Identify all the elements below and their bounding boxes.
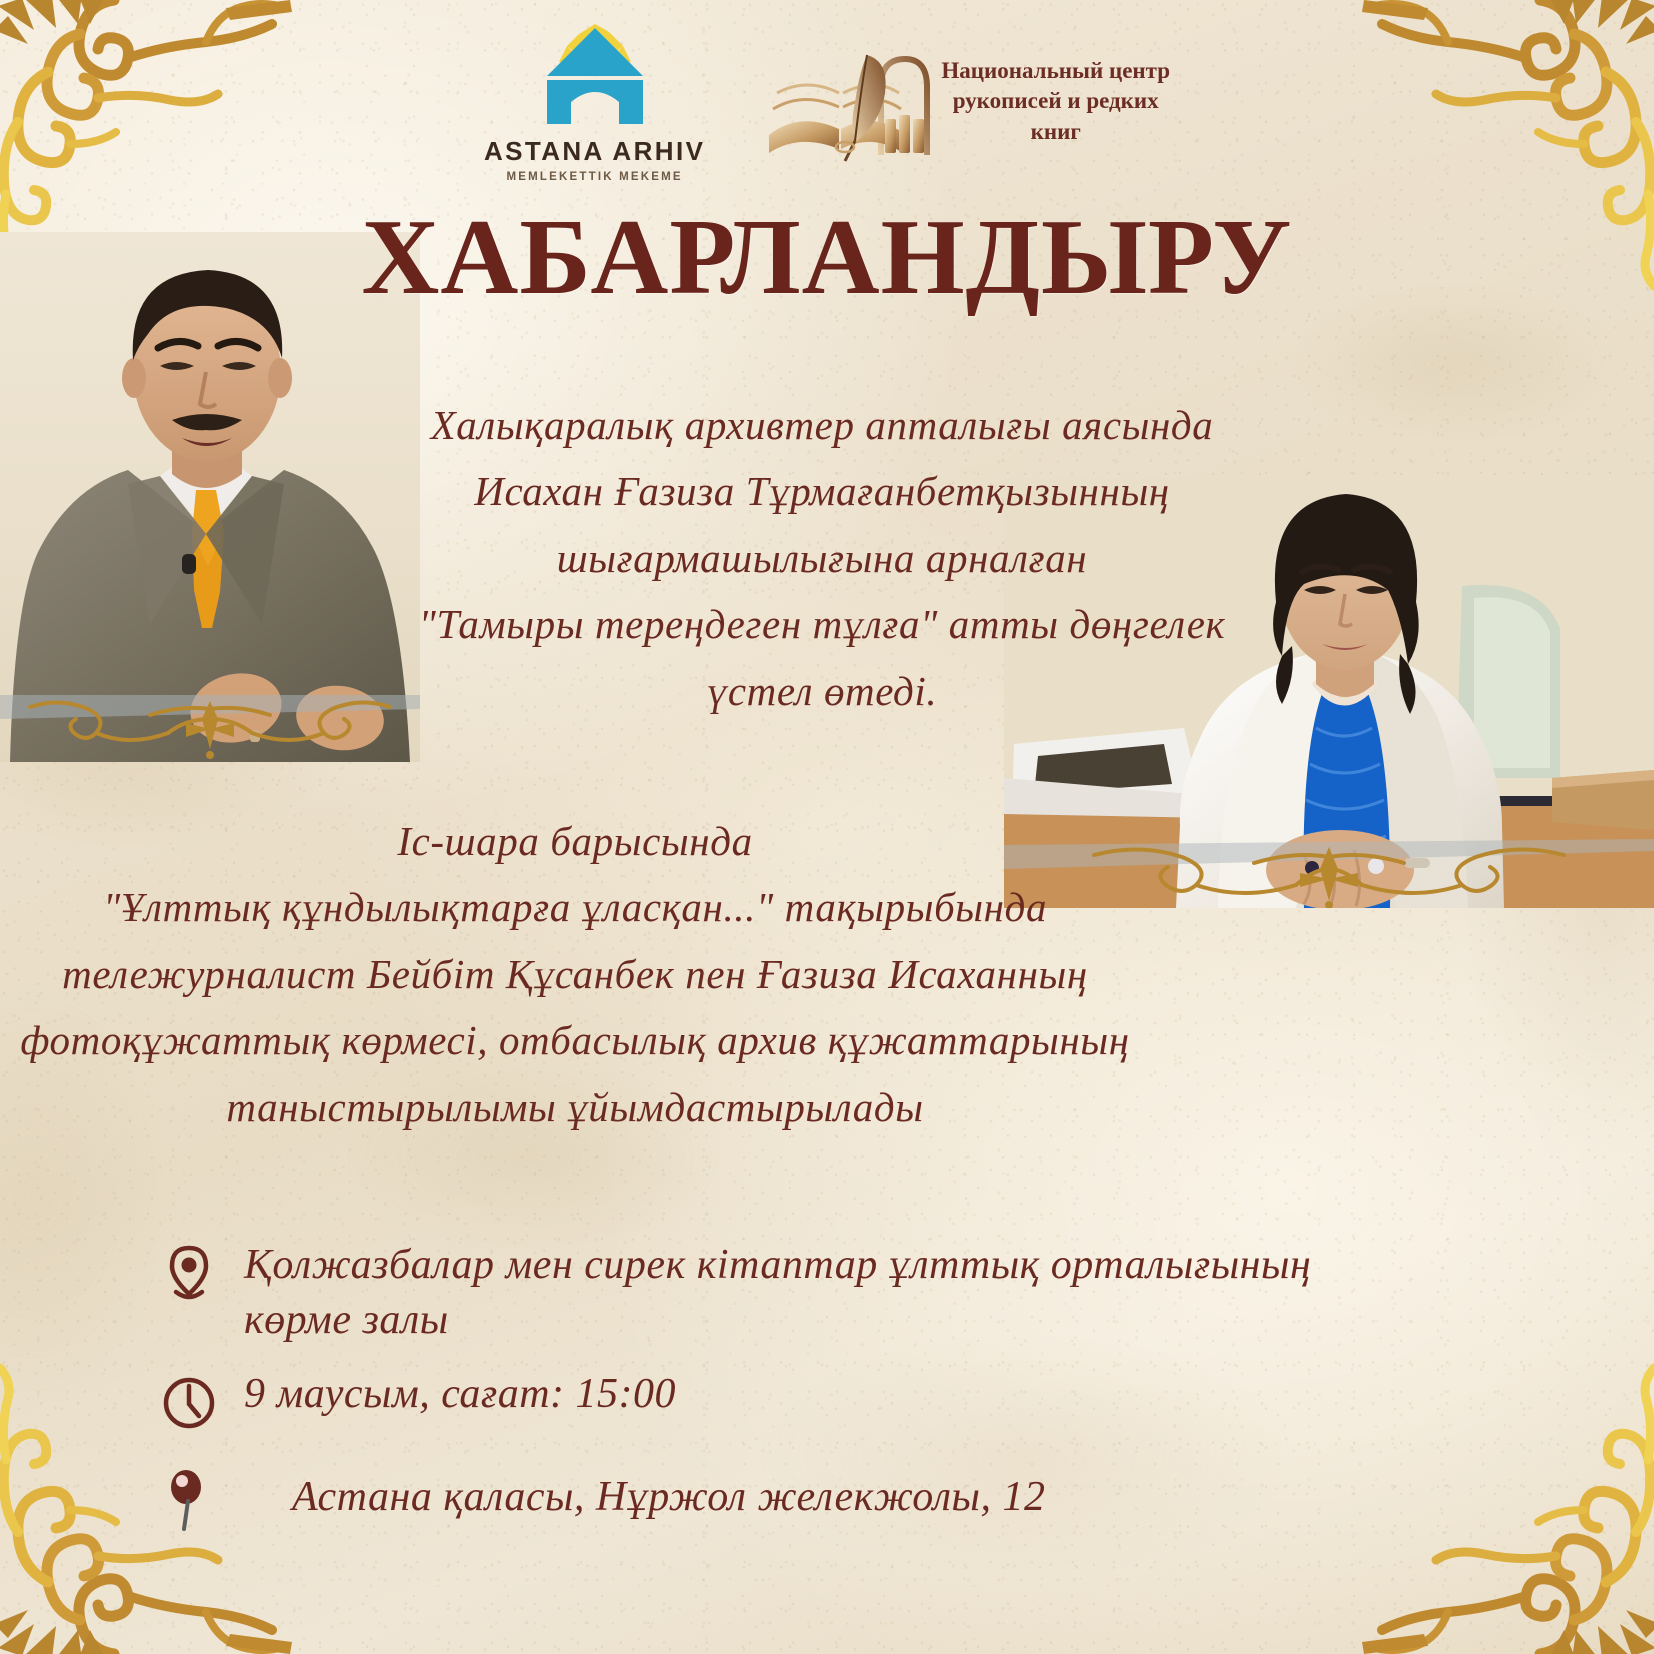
venue-line-2: көрме залы [244, 1293, 1311, 1348]
map-pin-icon [160, 1461, 218, 1531]
detail-row-time: 9 маусым, сағат: 15:00 [160, 1365, 1520, 1435]
program-line-2: "Ұлттық құндылықтарға ұласқан..." тақыры… [10, 874, 1140, 940]
clock-icon [160, 1365, 218, 1435]
astana-arhiv-mark-icon [531, 20, 659, 132]
intro-line-2: Исахан Ғазиза Тұрмағанбетқызынның [392, 458, 1252, 524]
detail-row-address: Астана қаласы, Нұржол желекжолы, 12 [160, 1461, 1520, 1531]
ncm-line-2: рукописей и редких [941, 86, 1170, 116]
intro-paragraph: Халықаралық архивтер апталығы аясында Ис… [392, 392, 1252, 724]
ncm-line-1: Национальный центр [941, 56, 1170, 86]
detail-address-text: Астана қаласы, Нұржол желекжолы, 12 [244, 1468, 1045, 1525]
intro-line-3: шығармашылығына арналған [392, 525, 1252, 591]
astana-logo-name: ASTANA ARHIV [484, 136, 705, 167]
logo-header: ASTANA ARHIV MEMLEKETTIK MEKEME [0, 14, 1654, 189]
event-details: Қолжазбалар мен сирек кітаптар ұлттық ор… [160, 1236, 1520, 1549]
venue-line-1: Қолжазбалар мен сирек кітаптар ұлттық ор… [244, 1238, 1311, 1293]
detail-time-text: 9 маусым, сағат: 15:00 [244, 1365, 676, 1422]
detail-row-venue: Қолжазбалар мен сирек кітаптар ұлттық ор… [160, 1236, 1520, 1347]
astana-arhiv-logo: ASTANA ARHIV MEMLEKETTIK MEKEME [484, 20, 705, 183]
astana-logo-subtitle: MEMLEKETTIK MEKEME [506, 171, 682, 183]
intro-line-5: үстел өтеді. [392, 658, 1252, 724]
ncm-line-3: книг [941, 117, 1170, 147]
national-center-logo: Национальный центр рукописей и редких кн… [763, 37, 1170, 167]
program-line-1: Іс-шара барысында [10, 808, 1140, 874]
manuscript-book-quill-icon [763, 37, 933, 167]
poster-root: ASTANA ARHIV MEMLEKETTIK MEKEME [0, 0, 1654, 1654]
program-line-3: тележурналист Бейбіт Құсанбек пен Ғазиза… [10, 941, 1140, 1007]
intro-line-4: "Тамыры тереңдеген тұлға" атты дөңгелек [392, 591, 1252, 657]
national-center-logo-text: Национальный центр рукописей и редких кн… [941, 56, 1170, 147]
page-title: ХАБАРЛАНДЫРУ [0, 196, 1654, 320]
location-pin-icon [160, 1236, 218, 1306]
detail-venue-text: Қолжазбалар мен сирек кітаптар ұлттық ор… [244, 1236, 1311, 1347]
ornament-flourish-under-man-photo [0, 689, 420, 762]
program-line-5: таныстырылымы ұйымдастырылады [10, 1074, 1140, 1140]
program-line-4: фотоқұжаттық көрмесі, отбасылық архив құ… [10, 1007, 1140, 1073]
program-paragraph: Іс-шара барысында "Ұлттық құндылықтарға … [10, 808, 1140, 1140]
intro-line-1: Халықаралық архивтер апталығы аясында [392, 392, 1252, 458]
